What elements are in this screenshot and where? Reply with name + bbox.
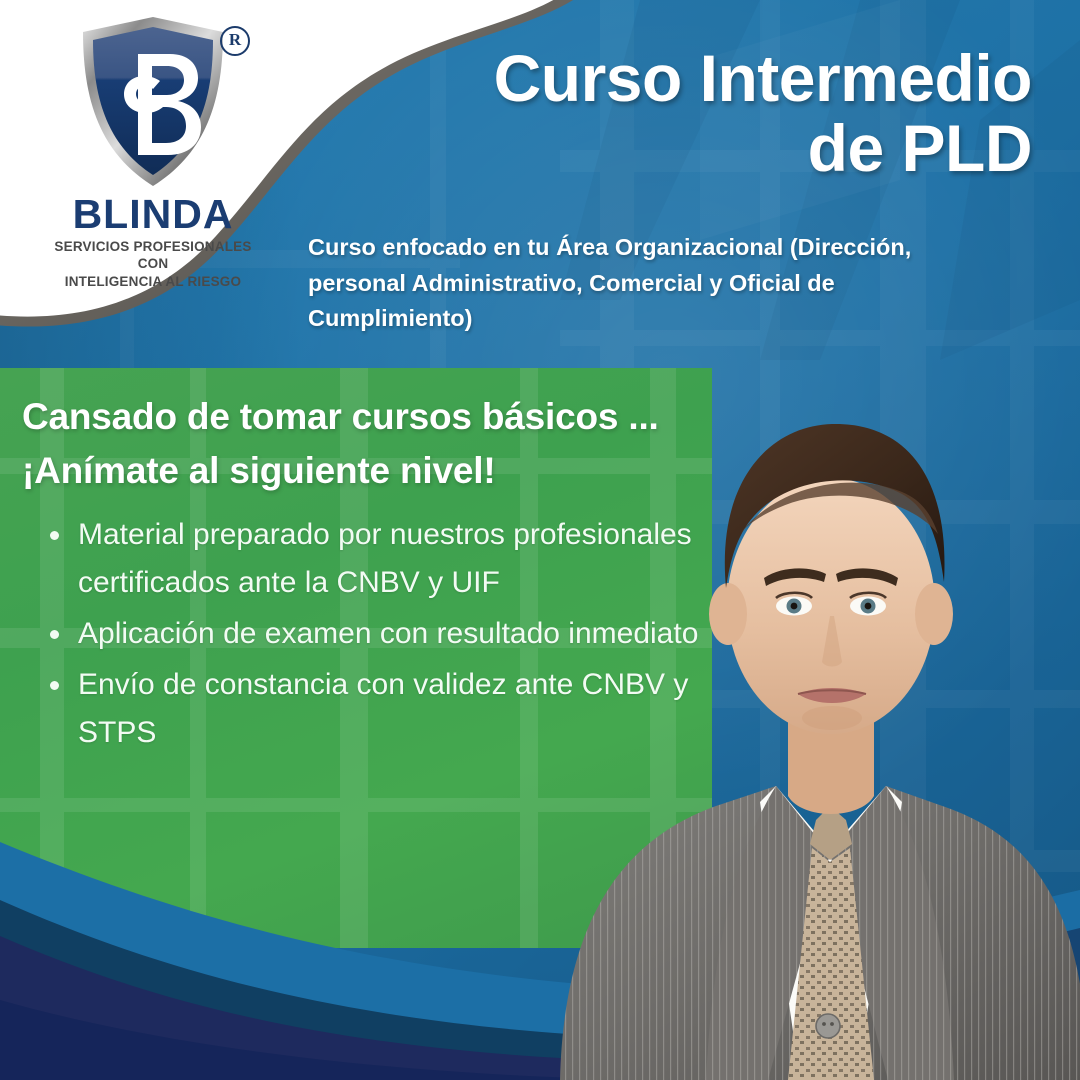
title-line-1: Curso Intermedio [412,44,1032,114]
brand-name: BLINDA [38,191,268,238]
registered-trademark-icon: R [220,26,250,56]
promotional-poster: R BLINDA SERVICIOS PROFESIONALES CON INT… [0,0,1080,1080]
shield-icon: R [78,14,228,189]
brand-tagline-line1: SERVICIOS PROFESIONALES CON [38,239,268,273]
subtitle-line-2: personal Administrativo, Comercial y Ofi… [308,266,1036,302]
subtitle-line-1: Curso enfocado en tu Área Organizacional… [308,230,1036,266]
brand-logo: R BLINDA SERVICIOS PROFESIONALES CON INT… [38,8,268,291]
page-title: Curso Intermedio de PLD [412,44,1032,184]
title-line-2: de PLD [412,114,1032,184]
brand-tagline-line2: INTELIGENCIA AL RIESGO [38,274,268,291]
businessman-portrait [530,320,1080,1080]
